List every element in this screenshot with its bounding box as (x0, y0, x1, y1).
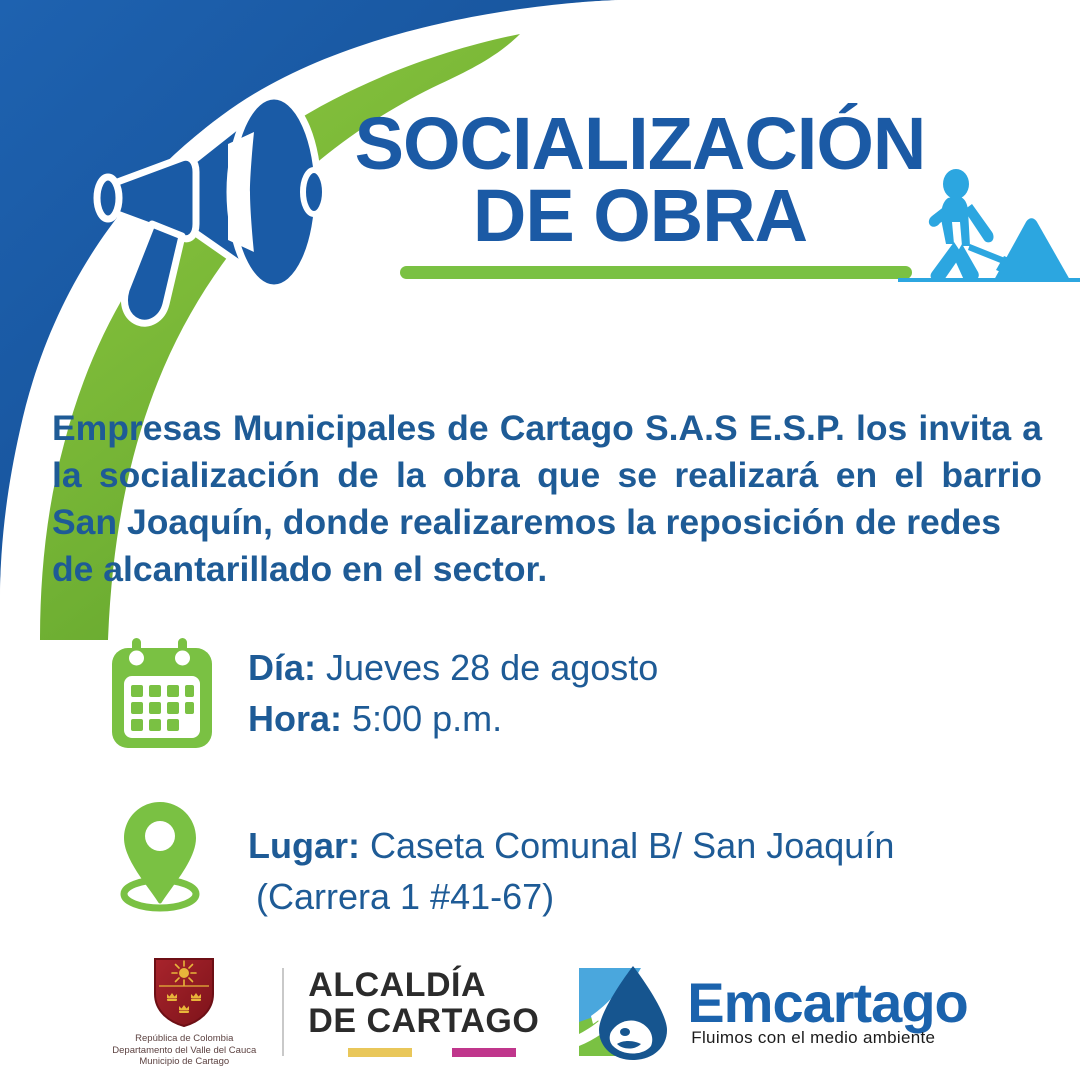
emcartago-droplet-icon (577, 960, 681, 1064)
caption-line-1: República de Colombia (112, 1033, 256, 1045)
body-paragraph: Empresas Municipales de Cartago S.A.S E.… (52, 405, 1042, 592)
time-value: 5:00 p.m. (352, 698, 502, 739)
place-value: Caseta Comunal B/ San Joaquín (370, 825, 894, 866)
poster-header: SOCIALIZACIÓN DE OBRA (0, 0, 1080, 330)
time-label: Hora: (248, 698, 342, 739)
footer-logos: República de Colombia Departamento del V… (0, 952, 1080, 1072)
alcaldia-bar-yellow (348, 1048, 412, 1057)
place-value-line-2: (Carrera 1 #41-67) (256, 876, 554, 917)
coat-of-arms-caption: República de Colombia Departamento del V… (112, 1033, 256, 1069)
alcaldia-line-1: ALCALDÍA (308, 967, 539, 1003)
alcaldia-bar-magenta (452, 1048, 516, 1057)
date-time-row: Día: Jueves 28 de agosto Hora: 5:00 p.m. (104, 636, 1044, 754)
map-pin-icon (104, 798, 226, 916)
event-details: Día: Jueves 28 de agosto Hora: 5:00 p.m.… (104, 636, 1044, 922)
emcartago-tagline: Fluimos con el medio ambiente (691, 1028, 967, 1048)
title-line-2: DE OBRA (345, 180, 935, 252)
footer-divider (282, 968, 284, 1056)
place-label: Lugar: (248, 825, 360, 866)
construction-worker-icon (898, 166, 1080, 286)
place-line-1: Lugar: Caseta Comunal B/ San Joaquín (248, 820, 894, 871)
caption-line-3: Municipio de Cartago (112, 1056, 256, 1068)
coat-of-arms-icon (151, 956, 217, 1028)
alcaldia-color-bars (348, 1048, 539, 1057)
title-underline-rule (400, 266, 912, 279)
place-line-2: (Carrera 1 #41-67) (248, 871, 894, 922)
emcartago-name: Emcartago (687, 976, 967, 1030)
calendar-icon (104, 636, 226, 754)
date-line: Día: Jueves 28 de agosto (248, 642, 658, 693)
poster-canvas: SOCIALIZACIÓN DE OBRA (0, 0, 1080, 1080)
time-line: Hora: 5:00 p.m. (248, 693, 658, 744)
poster-title: SOCIALIZACIÓN DE OBRA (345, 108, 935, 252)
coat-of-arms-block: República de Colombia Departamento del V… (112, 956, 256, 1069)
alcaldia-logo: ALCALDÍA DE CARTAGO (308, 967, 539, 1057)
date-label: Día: (248, 647, 316, 688)
caption-line-2: Departamento del Valle del Cauca (112, 1045, 256, 1057)
megaphone-icon (78, 72, 348, 337)
body-paragraph-last-line: de alcantarillado en el sector. (52, 546, 1042, 593)
place-row: Lugar: Caseta Comunal B/ San Joaquín (Ca… (104, 798, 1044, 922)
alcaldia-line-2: DE CARTAGO (308, 1003, 539, 1039)
date-value: Jueves 28 de agosto (326, 647, 658, 688)
title-line-1: SOCIALIZACIÓN (345, 108, 935, 180)
body-paragraph-main: Empresas Municipales de Cartago S.A.S E.… (52, 408, 1042, 542)
emcartago-logo: Emcartago Fluimos con el medio ambiente (577, 960, 967, 1064)
